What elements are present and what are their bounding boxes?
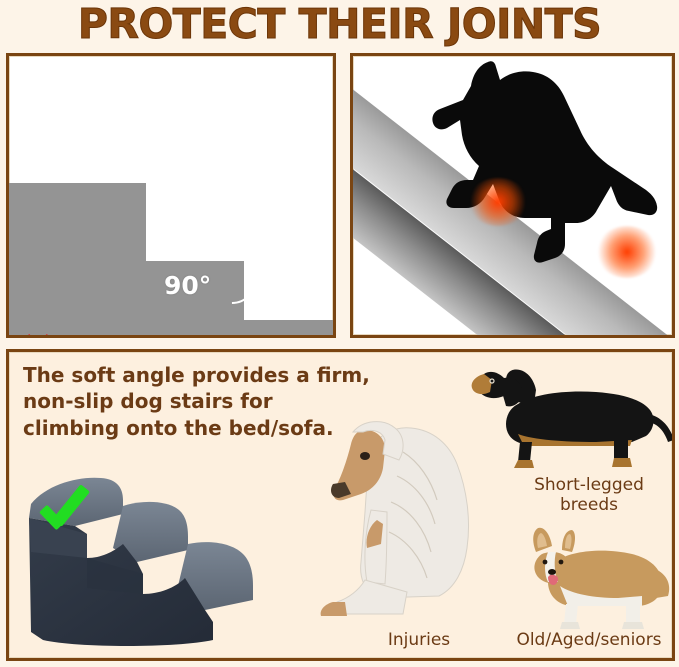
- red-x-icon: [21, 333, 55, 338]
- joint-pain-glow-front: [468, 178, 528, 226]
- panel-product-benefits: The soft angle provides a firm, non-slip…: [6, 349, 675, 661]
- green-check-icon: [37, 483, 91, 529]
- dachshund-photo: [464, 364, 675, 474]
- corgi-photo: [514, 520, 675, 632]
- red-x-icon: [367, 334, 401, 338]
- caption-difficulty: Difficulty of climbing: [21, 333, 248, 338]
- panel-difficulty-of-climbing: 90° Difficulty of climbing: [6, 53, 336, 338]
- stair-step-bottom: [9, 320, 336, 338]
- joint-pain-glow-rear: [596, 226, 658, 278]
- angle-label: 90°: [164, 271, 211, 300]
- panel-slippery-easy-to-fall: Slippery, easy to fall: [350, 53, 675, 338]
- page-title: PROTECT THEIR JOINTS: [0, 0, 679, 48]
- label-injuries: Injuries: [339, 630, 499, 650]
- label-old-aged-seniors: Old/Aged/seniors: [489, 630, 675, 650]
- label-short-legged-breeds: Short-legged breeds: [499, 475, 675, 516]
- infographic-page: PROTECT THEIR JOINTS 90° Difficulty of c…: [0, 0, 679, 667]
- caption-slippery: Slippery, easy to fall: [367, 334, 592, 338]
